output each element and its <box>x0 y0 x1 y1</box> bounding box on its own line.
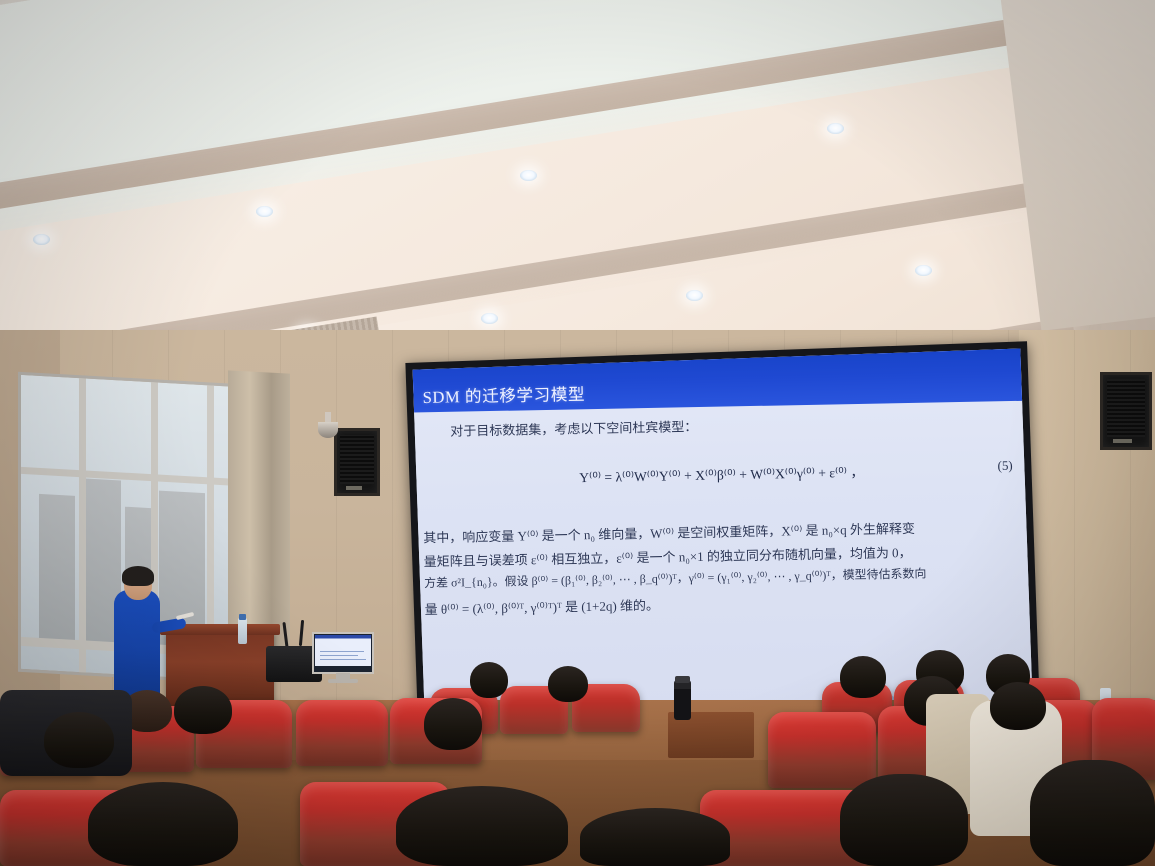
water-bottle <box>238 618 247 644</box>
presenter-hair <box>122 566 154 586</box>
spotlight-icon <box>827 123 844 134</box>
slide-equation-wrap: Y⁽⁰⁾ = λ⁽⁰⁾W⁽⁰⁾Y⁽⁰⁾ + X⁽⁰⁾β⁽⁰⁾ + W⁽⁰⁾X⁽⁰… <box>413 458 1034 491</box>
wall-speaker-left <box>334 428 380 496</box>
slide-title: SDM 的迁移学习模型 <box>422 380 585 408</box>
audience-head <box>174 686 232 734</box>
audience-head <box>470 662 508 698</box>
audience-head <box>840 774 968 866</box>
audience-head <box>88 782 238 866</box>
dome-camera-icon <box>318 422 338 438</box>
monitor-text-line <box>320 655 358 656</box>
seat <box>296 700 388 766</box>
speaker-brand-plate <box>346 486 362 490</box>
slide-equation: Y⁽⁰⁾ = λ⁽⁰⁾W⁽⁰⁾Y⁽⁰⁾ + X⁽⁰⁾β⁽⁰⁾ + W⁽⁰⁾X⁽⁰… <box>579 461 864 486</box>
wall-speaker-right <box>1100 372 1152 450</box>
audience-head <box>580 808 730 866</box>
equation-number: (5) <box>997 458 1012 474</box>
seat <box>768 712 876 788</box>
monitor-text-line <box>320 651 364 652</box>
thermos-flask <box>674 680 691 720</box>
speaker-grille <box>340 435 374 485</box>
audience-head <box>548 666 588 702</box>
presenter-body <box>114 590 160 698</box>
spotlight-icon <box>256 206 273 217</box>
slide-line-5: 量 θ⁽⁰⁾ = (λ⁽⁰⁾, β⁽⁰⁾ᵀ, γ⁽⁰⁾ᵀ)ᵀ 是 (1+2q) … <box>424 594 659 618</box>
monitor-text-line <box>320 659 366 660</box>
audience-head <box>990 682 1046 730</box>
spotlight-icon <box>915 265 932 276</box>
audience-head <box>44 712 114 768</box>
monitor-base <box>328 679 358 683</box>
spotlight-icon <box>481 313 498 324</box>
window-mullion <box>79 378 86 672</box>
speaker-grille <box>1107 379 1146 437</box>
confidence-monitor-screen <box>315 635 371 666</box>
city-building <box>39 494 75 646</box>
slide-line-1: 对于目标数据集，考虑以下空间杜宾模型： <box>450 415 697 439</box>
audience-head <box>396 786 568 866</box>
audience-head <box>1030 760 1155 866</box>
audience-head <box>424 698 482 750</box>
water-bottle-cap <box>239 614 246 620</box>
thermos-cap <box>675 676 690 683</box>
presentation-photo-scene: SDM 的迁移学习模型 对于目标数据集，考虑以下空间杜宾模型： Y⁽⁰⁾ = λ… <box>0 0 1155 866</box>
speaker-brand-plate <box>1113 439 1131 443</box>
spotlight-icon <box>33 234 50 245</box>
spotlight-icon <box>686 290 703 301</box>
audience-head <box>840 656 886 698</box>
spotlight-icon <box>520 170 537 181</box>
